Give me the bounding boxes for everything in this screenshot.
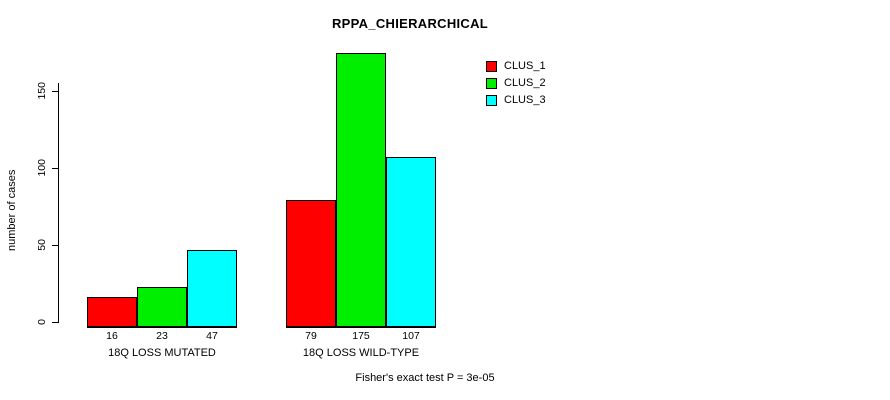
y-axis-line [58,83,59,323]
legend-label: CLUS_3 [504,94,546,106]
legend-label: CLUS_1 [504,60,546,72]
bar [137,287,187,327]
legend: CLUS_1CLUS_2CLUS_3 [486,58,546,109]
bar-value-label: 16 [87,330,137,342]
y-tick-label-text: 100 [36,159,48,177]
bar [386,157,436,327]
y-tick-0 [52,322,58,323]
legend-swatch-icon [486,78,497,89]
x-axis-line-group-2 [286,327,436,328]
bar-value-label: 79 [286,330,336,342]
legend-item: CLUS_1 [486,58,546,74]
y-tick-label-50: 50 [30,231,48,259]
bar [336,53,386,328]
bar-value-label: 23 [137,330,187,342]
bar-value-label: 107 [386,330,436,342]
legend-item: CLUS_2 [486,75,546,91]
y-axis-title: number of cases [2,150,22,270]
group-label: 18Q LOSS MUTATED [87,347,237,359]
legend-swatch-icon [486,61,497,72]
y-tick-150 [52,91,58,92]
y-tick-label-text: 50 [36,239,48,251]
chart-title: RPPA_CHIERARCHICAL [0,16,855,31]
y-tick-label-0: 0 [30,308,48,336]
bar [87,297,137,327]
y-tick-label-150: 150 [30,77,48,105]
legend-swatch-icon [486,95,497,106]
legend-label: CLUS_2 [504,77,546,89]
y-tick-label-text: 0 [36,319,48,325]
legend-item: CLUS_3 [486,92,546,108]
group-label: 18Q LOSS WILD-TYPE [286,347,436,359]
bar [187,250,237,327]
y-tick-50 [52,245,58,246]
y-tick-100 [52,168,58,169]
barplot-figure: RPPA_CHIERARCHICAL number of cases 05010… [0,0,890,400]
y-tick-label-100: 100 [30,154,48,182]
bar-value-label: 47 [187,330,237,342]
bar [286,200,336,327]
footer-annotation: Fisher's exact test P = 3e-05 [0,372,870,384]
y-tick-label-text: 150 [36,82,48,100]
x-axis-line-group-1 [87,327,237,328]
bar-value-label: 175 [336,330,386,342]
